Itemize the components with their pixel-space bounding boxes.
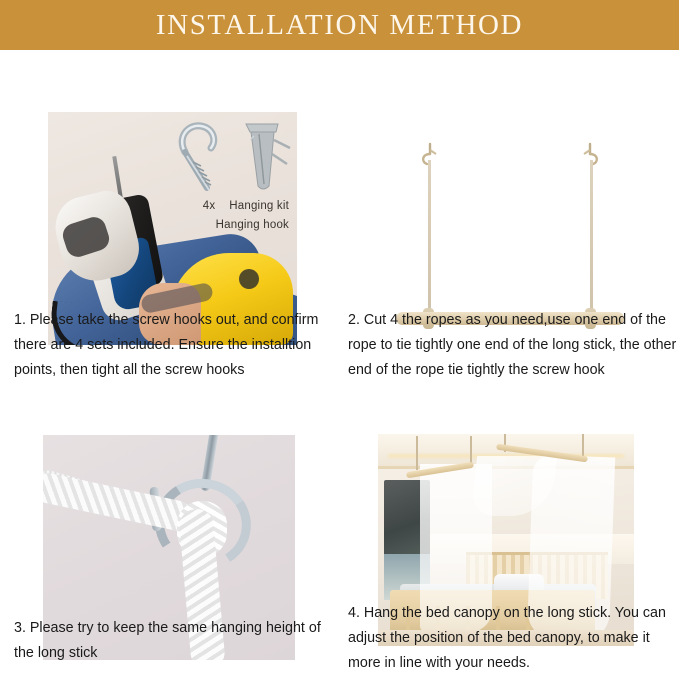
rope-right (590, 160, 593, 322)
page-title: INSTALLATION METHOD (156, 11, 523, 40)
kit-name: Hanging kit (229, 200, 289, 212)
hanging-kit-label: 4xHanging kit (203, 200, 289, 212)
step-4-caption: 4. Hang the bed canopy on the long stick… (348, 601, 678, 676)
wall-anchor-icon (238, 118, 292, 192)
step-2-caption: 2. Cut 4 the ropes as you need,use one e… (348, 308, 678, 383)
kit-quantity: 4x (203, 200, 216, 212)
hanging-hook-label: Hanging hook (216, 219, 289, 231)
step-1-caption: 1. Please take the screw hooks out, and … (14, 308, 336, 383)
step-3-caption: 3. Please try to keep the same hanging h… (14, 616, 336, 666)
header-bar: INSTALLATION METHOD (0, 0, 679, 50)
canopy-hanging-rope (470, 436, 472, 464)
screw-hook-icon (173, 118, 233, 192)
rope-left (428, 160, 431, 322)
instruction-sheet: 4xHanging kit Hanging hook 1. Please tak… (0, 50, 679, 673)
canopy-hanging-rope (416, 436, 418, 470)
hard-hat-knob (239, 269, 259, 289)
